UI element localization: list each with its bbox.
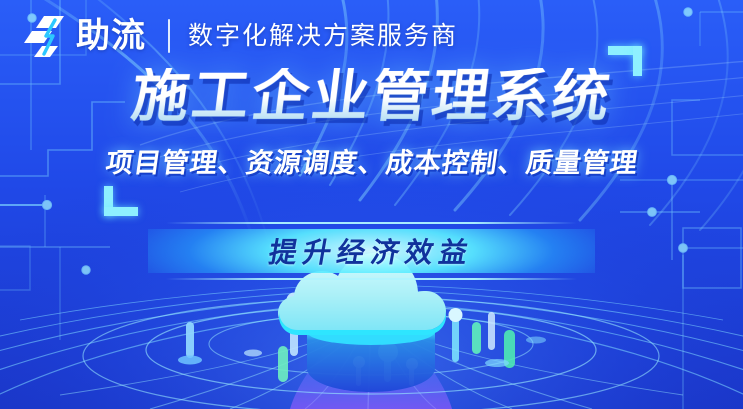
main-title-block: 施工企业管理系统 — [0, 68, 743, 125]
brand-name: 助流 — [76, 19, 146, 53]
corner-bracket-bottom-left-icon — [104, 186, 138, 216]
page-subtitle: 项目管理、资源调度、成本控制、质量管理 — [104, 150, 640, 177]
subtitle-block: 项目管理、资源调度、成本控制、质量管理 — [0, 150, 743, 177]
brand-tagline: 数字化解决方案服务商 — [188, 24, 458, 49]
band-text: 提升经济效益 — [143, 222, 600, 280]
banner-header: 助流 数字化解决方案服务商 — [22, 8, 458, 64]
marketing-banner: 助流 数字化解决方案服务商 施工企业管理系统 项目管理、资源调度、成本控制、质量… — [0, 0, 743, 409]
header-divider — [168, 19, 170, 53]
lightning-bolt-logo-icon — [22, 14, 68, 58]
highlight-band: 提升经济效益 — [148, 222, 595, 280]
page-title: 施工企业管理系统 — [128, 68, 615, 125]
